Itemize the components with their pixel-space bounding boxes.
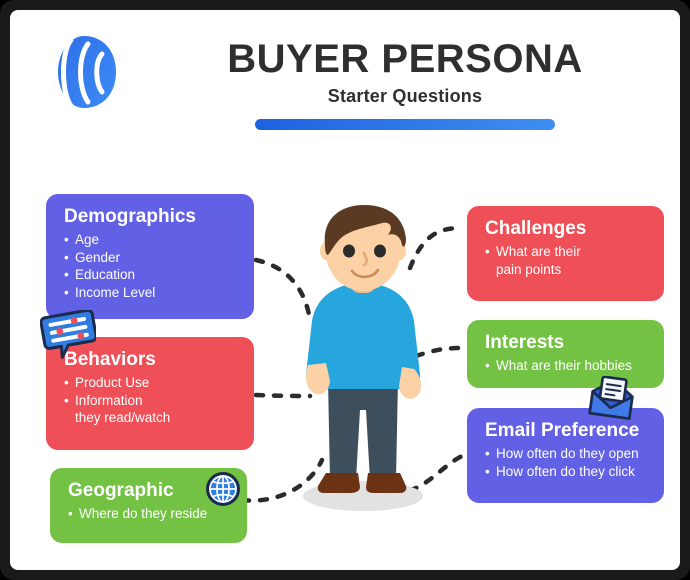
- bullet-item: Information they read/watch: [64, 392, 238, 428]
- card-demographics[interactable]: Demographics Age Gender Education Income…: [46, 194, 254, 319]
- card-geographic-title: Geographic: [68, 480, 174, 502]
- bullet-item: Age: [64, 231, 238, 249]
- character-shoe-left: [318, 473, 360, 493]
- card-geographic-bullets: Where do they reside: [68, 505, 231, 523]
- card-demographics-title: Demographics: [64, 206, 238, 228]
- bullet-item: How often do they open: [485, 445, 648, 463]
- character-eye-right: [374, 245, 386, 258]
- card-challenges-title: Challenges: [485, 218, 648, 240]
- envelope-icon: [588, 376, 636, 420]
- character-shoe-right: [366, 473, 406, 493]
- buyer-persona-character: [278, 205, 448, 515]
- page-title: BUYER PERSONA: [160, 38, 650, 80]
- bullet-item: How often do they click: [485, 463, 648, 481]
- poster-frame: BUYER PERSONA Starter Questions: [0, 0, 690, 580]
- card-challenges-bullets: What are their pain points: [485, 243, 648, 279]
- bullet-item: Where do they reside: [68, 505, 231, 523]
- page-subtitle: Starter Questions: [160, 86, 650, 107]
- card-interests-title: Interests: [485, 332, 648, 354]
- chat-settings-icon: [40, 310, 96, 360]
- card-email-preference-bullets: How often do they open How often do they…: [485, 445, 648, 481]
- arcs-logo-icon: [48, 34, 120, 110]
- card-email-preference-title: Email Preference: [485, 420, 648, 442]
- card-email-preference[interactable]: Email Preference How often do they open …: [467, 408, 664, 503]
- bullet-item: Income Level: [64, 284, 238, 302]
- title-block: BUYER PERSONA Starter Questions: [160, 38, 650, 130]
- title-accent-bar: [255, 119, 555, 130]
- globe-icon: [206, 472, 240, 506]
- card-challenges[interactable]: Challenges What are their pain points: [467, 206, 664, 301]
- bullet-item: Product Use: [64, 374, 238, 392]
- card-behaviors-bullets: Product Use Information they read/watch: [64, 374, 238, 427]
- bullet-item: Gender: [64, 249, 238, 267]
- card-interests-bullets: What are their hobbies: [485, 357, 648, 375]
- card-demographics-bullets: Age Gender Education Income Level: [64, 231, 238, 302]
- poster-canvas: BUYER PERSONA Starter Questions: [10, 10, 680, 570]
- header: BUYER PERSONA Starter Questions: [10, 10, 680, 140]
- bullet-item: What are their pain points: [485, 243, 648, 279]
- character-pants: [328, 380, 398, 480]
- character-hand-left: [306, 363, 330, 394]
- character-eye-left: [343, 245, 355, 258]
- bullet-item: Education: [64, 266, 238, 284]
- bullet-item: What are their hobbies: [485, 357, 648, 375]
